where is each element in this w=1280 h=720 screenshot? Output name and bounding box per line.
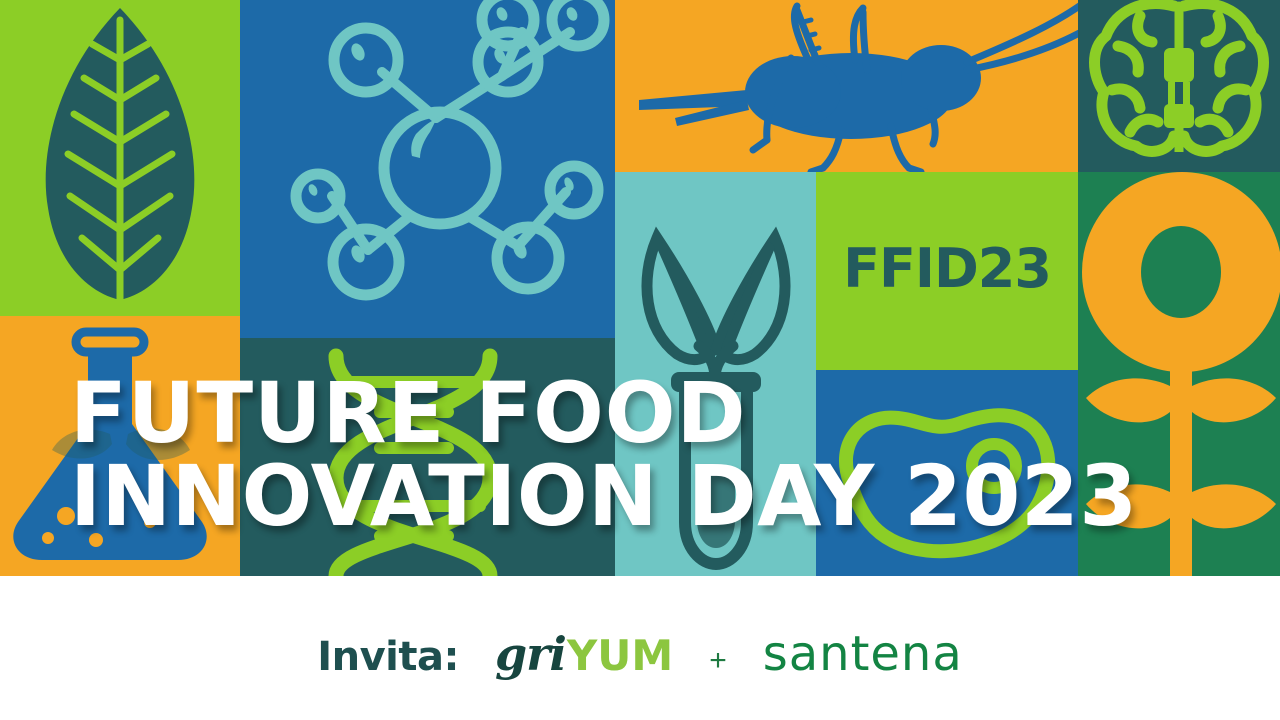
brain-plug-icon [1078,0,1280,172]
ffid23-label: FFID23 [816,172,1078,370]
logo-griyum: griYUM [495,627,673,681]
footer-sponsors: Invita: griYUM + santena [0,576,1280,720]
sponsor-separator: + [709,644,727,678]
tile-gear-flower [1078,172,1280,576]
tile-cricket [615,0,1078,172]
dna-icon [240,338,615,576]
logo-santena: santena [763,626,963,682]
gear-flower-icon [1078,172,1280,576]
test-tube-sprout-icon [615,172,816,576]
invita-label: Invita: [317,634,459,680]
tile-cultured-meat [816,370,1078,576]
tile-brain [1078,0,1280,172]
cricket-icon [615,0,1078,172]
tile-flask [0,316,240,576]
tile-test-tube [615,172,816,576]
molecule-icon [240,0,615,338]
tile-mosaic: FFID23 [0,0,1280,576]
cultured-meat-icon [816,370,1078,576]
griyum-script-part: gri [495,627,566,681]
flask-icon [0,316,240,576]
tile-dna [240,338,615,576]
tile-molecule [240,0,615,338]
griyum-bold-part: YUM [567,631,673,680]
tile-leaf [0,0,240,316]
tile-ffid23: FFID23 [816,172,1078,370]
leaf-icon [0,0,240,316]
